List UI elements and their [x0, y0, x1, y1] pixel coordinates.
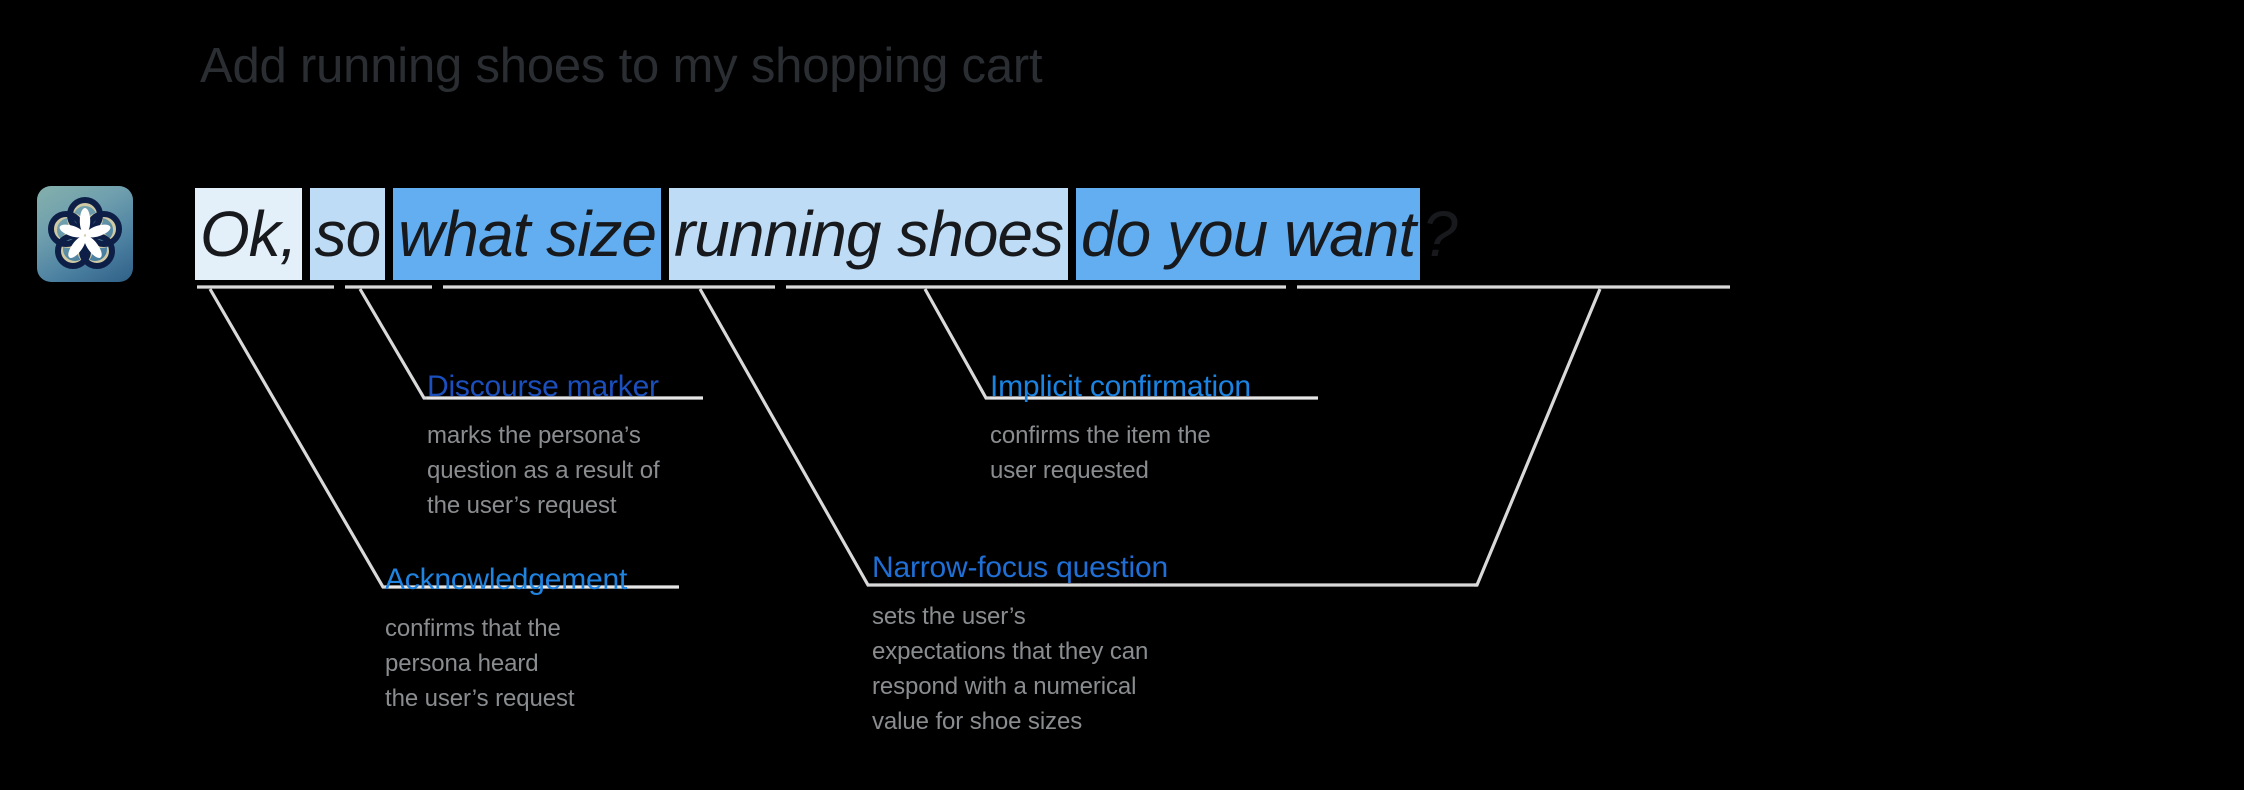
- annotation-body-line: confirms that the: [385, 611, 627, 646]
- segment-gap: [1068, 188, 1076, 280]
- annotation-body-line: persona heard: [385, 646, 627, 681]
- segment-gap: [302, 188, 310, 280]
- segment-gap: [385, 188, 393, 280]
- annotation-body-line: respond with a numerical: [872, 669, 1168, 704]
- annotation-heading: Narrow-focus question: [872, 551, 1168, 588]
- annotation-body-line: expectations that they can: [872, 634, 1168, 669]
- annotation-discourse-marker: Discourse marker marks the persona’s que…: [427, 370, 660, 523]
- annotation-heading: Acknowledgement: [385, 563, 627, 600]
- diagram-canvas: Add running shoes to my shopping cart: [0, 0, 2244, 790]
- page-title: Add running shoes to my shopping cart: [200, 42, 1042, 91]
- annotation-body-line: user requested: [990, 453, 1251, 488]
- leader-narrow-focus-b: [1474, 289, 1600, 585]
- annotation-body-line: the user’s request: [427, 488, 660, 523]
- leader-acknowledgement: [210, 289, 385, 587]
- annotation-body: marks the persona’s question as a result…: [427, 418, 660, 523]
- annotation-body-line: marks the persona’s: [427, 418, 660, 453]
- annotation-heading: Implicit confirmation: [990, 370, 1251, 407]
- annotation-acknowledgement: Acknowledgement confirms that the person…: [385, 563, 627, 716]
- annotation-body: confirms that the persona heard the user…: [385, 611, 627, 716]
- annotation-implicit-confirmation: Implicit confirmation confirms the item …: [990, 370, 1251, 488]
- annotation-body-line: the user’s request: [385, 681, 627, 716]
- annotation-narrow-focus-question: Narrow-focus question sets the user’s ex…: [872, 551, 1168, 739]
- annotation-body-line: confirms the item the: [990, 418, 1251, 453]
- leader-discourse-marker: [360, 289, 427, 398]
- utterance-segment-what-size[interactable]: what size: [393, 188, 661, 280]
- utterance-line: Ok, so what size running shoes do you wa…: [195, 188, 1457, 280]
- utterance-question-mark: ?: [1420, 188, 1457, 280]
- annotation-body-line: value for shoe sizes: [872, 704, 1168, 739]
- annotation-body: confirms the item the user requested: [990, 418, 1251, 488]
- persona-avatar: [37, 186, 133, 282]
- annotation-heading: Discourse marker: [427, 370, 660, 407]
- utterance-segment-running-shoes[interactable]: running shoes: [669, 188, 1068, 280]
- utterance-segment-acknowledgement[interactable]: Ok,: [195, 188, 302, 280]
- flower-rosette-icon: [37, 186, 133, 282]
- leader-implicit-confirmation: [925, 289, 990, 398]
- annotation-body: sets the user’s expectations that they c…: [872, 599, 1168, 739]
- utterance-segment-do-you-want[interactable]: do you want: [1076, 188, 1420, 280]
- segment-gap: [661, 188, 669, 280]
- utterance-segment-discourse-marker[interactable]: so: [310, 188, 386, 280]
- leader-narrow-focus-a: [700, 289, 872, 585]
- annotation-body-line: question as a result of: [427, 453, 660, 488]
- annotation-body-line: sets the user’s: [872, 599, 1168, 634]
